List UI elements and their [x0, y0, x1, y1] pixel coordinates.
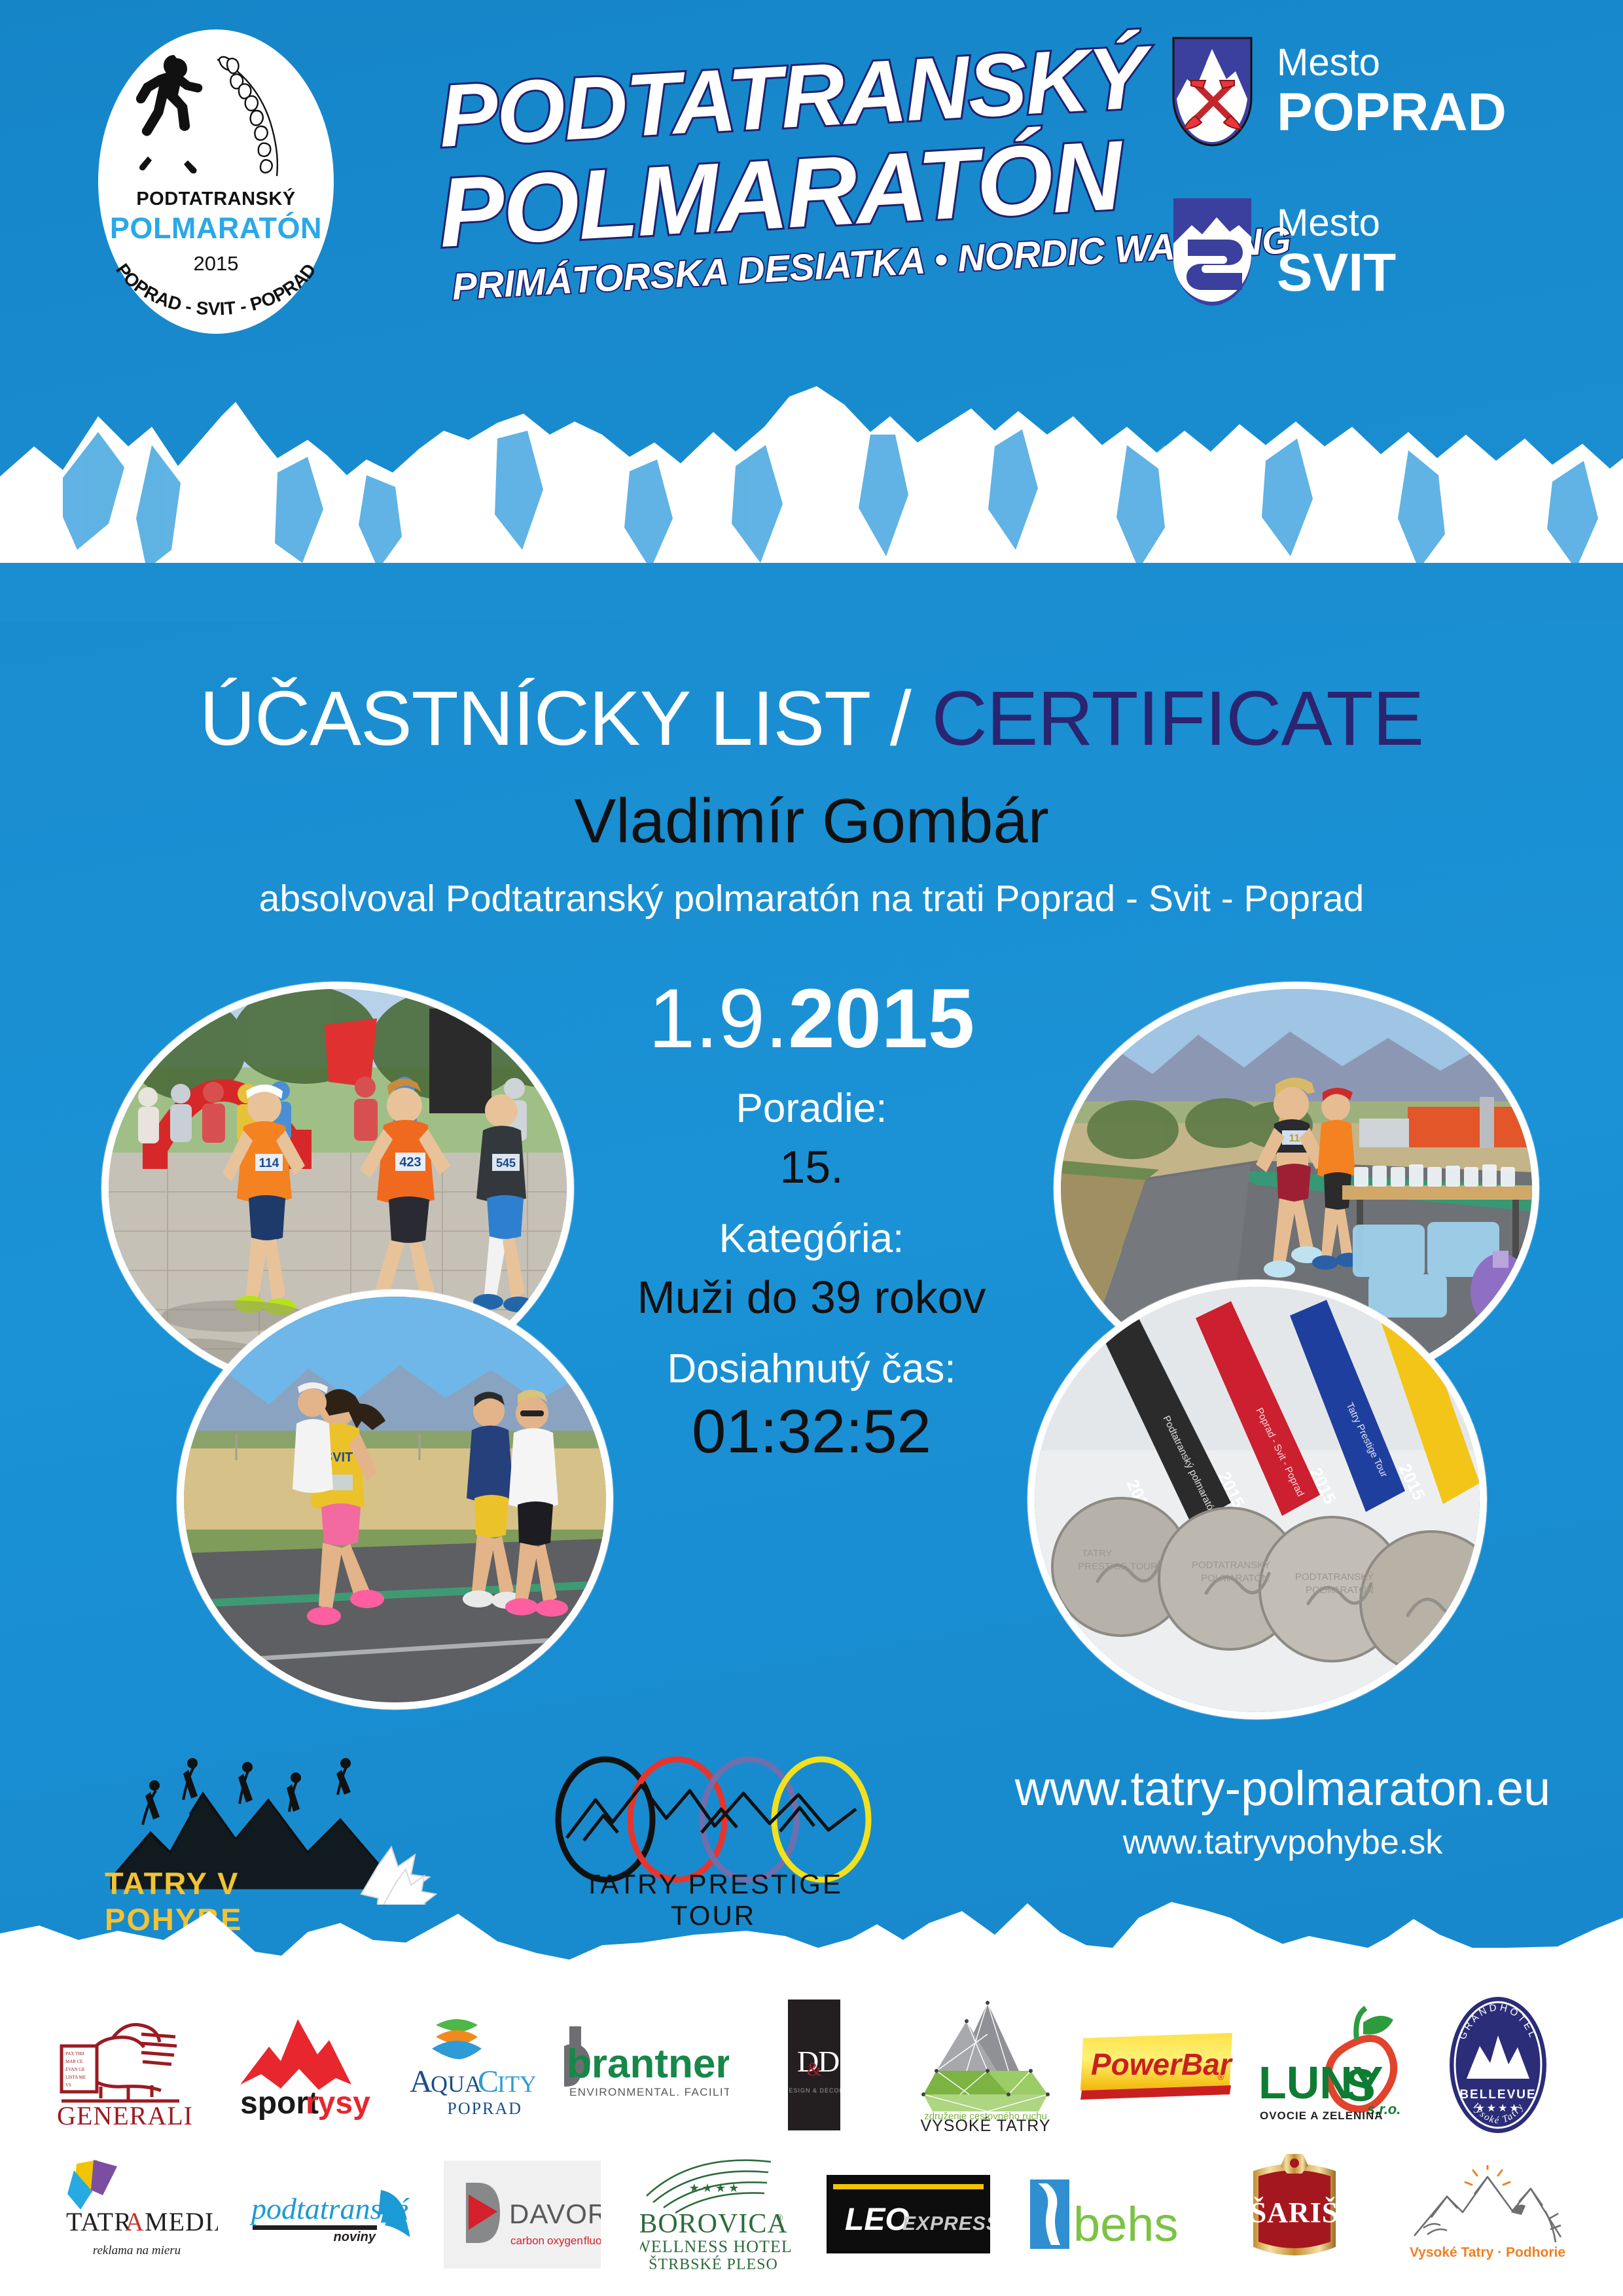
partner-svit-name: SVIT — [1277, 246, 1396, 300]
event-date-year: 2015 — [788, 972, 974, 1066]
svg-text:PRESTIGE TOUR: PRESTIGE TOUR — [1078, 1561, 1158, 1572]
svg-text:®: ® — [776, 2214, 783, 2223]
svg-text:OVOCIE A ZELENINA: OVOCIE A ZELENINA — [1260, 2109, 1383, 2122]
bottom-mountain-divider — [0, 1892, 1623, 1977]
svg-text:PAX TIBI: PAX TIBI — [65, 2051, 84, 2056]
svg-text:behsk: behsk — [1073, 2197, 1177, 2251]
svg-text:ITY: ITY — [497, 2071, 535, 2097]
certificate-subtitle: absolvoval Podtatranský polmaratón na tr… — [0, 877, 1623, 920]
svg-text:®: ® — [1218, 2073, 1224, 2082]
photo-runners-field: SVIT — [177, 1289, 613, 1710]
partner-poprad-prefix: Mesto — [1277, 44, 1507, 82]
website-main[interactable]: www.tatry-polmaraton.eu — [969, 1761, 1597, 1816]
partner-poprad: Mesto POPRAD — [1171, 36, 1507, 147]
svg-text:ENVIRONMENTAL. FACILITY SERVIC: ENVIRONMENTAL. FACILITY SERVICES — [569, 2086, 729, 2098]
sponsor-davorin: DAVORIN carbonoxygenfluorine — [425, 2152, 618, 2276]
event-date: 1.9.2015 — [550, 975, 1073, 1063]
sponsor-dd: D D & DESIGN & DECOR — [729, 1990, 900, 2140]
rank-label: Poradie: — [550, 1085, 1073, 1132]
svg-text:LEO: LEO — [845, 2202, 910, 2237]
time-label: Dosiahnutý čas: — [550, 1346, 1073, 1392]
sponsor-behsk: behsk — [1005, 2152, 1198, 2276]
svg-text:POLMARATÓN: POLMARATÓN — [1201, 1573, 1269, 1584]
brantner-logo: brantner ENVIRONMENTAL. FACILITY SERVICE… — [552, 2022, 729, 2108]
svit-crest-icon — [1171, 196, 1253, 308]
svg-text:WELLNESS HOTEL: WELLNESS HOTEL — [640, 2237, 791, 2256]
svg-text:VYSOKÉ TATRY: VYSOKÉ TATRY — [920, 2116, 1050, 2135]
dd-logo: D D & DESIGN & DECOR — [788, 2000, 840, 2130]
tatry-prestige-tour-logo — [550, 1754, 877, 1885]
svg-text:A: A — [125, 2207, 144, 2236]
svg-text:545: 545 — [496, 1157, 516, 1170]
svg-text:EXPRESS: EXPRESS — [902, 2213, 990, 2234]
time-value: 01:32:52 — [550, 1396, 1073, 1467]
svg-text:rysy: rysy — [306, 2086, 370, 2121]
vysoke-tatry-logo: združenie cestovného ruchu VYSOKÉ TATRY … — [910, 1995, 1061, 2136]
partner-svit-prefix: Mesto — [1277, 204, 1396, 242]
page-title-sk: ÚČASTNÍCKY LIST — [200, 675, 869, 762]
sponsor-row-1: PAX TIBIMAR CE EVAN GELISTA ME VS GENERA… — [0, 1990, 1623, 2140]
svg-text:D: D — [818, 2045, 840, 2078]
svg-text:423: 423 — [399, 1155, 421, 1170]
sponsor-leoexpress: LEO EXPRESS — [811, 2152, 1005, 2276]
svg-text:&: & — [807, 2060, 821, 2080]
page-title: ÚČASTNÍCKY LIST / CERTIFICATE — [0, 674, 1623, 763]
svg-text:11: 11 — [1289, 1133, 1300, 1144]
generali-logo: PAX TIBIMAR CE EVAN GELISTA ME VS GENERA… — [50, 2003, 200, 2127]
sponsor-generali: PAX TIBIMAR CE EVAN GELISTA ME VS GENERA… — [39, 1990, 210, 2140]
event-logo: PODTATRANSKÝ POLMARATÓN 2015 POPRAD - SV… — [98, 29, 334, 334]
svg-text:★★★★: ★★★★ — [1476, 2103, 1521, 2114]
website-secondary[interactable]: www.tatryvpohybe.sk — [969, 1823, 1597, 1862]
poster-header: PODTATRANSKÝ POLMARATÓN 2015 POPRAD - SV… — [0, 0, 1623, 367]
svg-text:fluorine: fluorine — [584, 2234, 601, 2247]
photo-runners-field-graphic: SVIT — [184, 1297, 606, 1702]
svg-text:POPRAD: POPRAD — [448, 2099, 523, 2118]
svg-text:carbon: carbon — [510, 2234, 544, 2247]
sponsor-bellevue: GRANDHOTEL Vysoké Tatry BELLEVUE ★★★★ — [1413, 1990, 1584, 2140]
svg-text:114: 114 — [259, 1157, 279, 1170]
rank-value: 15. — [550, 1141, 1073, 1193]
sponsor-tatramedia: TATR A MEDIA reklama na mieru — [39, 2152, 232, 2276]
sponsor-powerbar: PowerBar ® — [1071, 1990, 1241, 2140]
svg-text:TATRY: TATRY — [1082, 1548, 1113, 1559]
aquacity-logo: A QUA C ITY POPRAD — [398, 2003, 535, 2127]
leo-express-logo: LEO EXPRESS — [827, 2175, 990, 2253]
saris-logo: ŠARIŠ — [1245, 2154, 1344, 2275]
results-panel: 1.9.2015 Poradie: 15. Kategória: Muži do… — [550, 975, 1073, 1467]
page-title-en: CERTIFICATE — [931, 675, 1423, 762]
svg-text:A: A — [410, 2064, 433, 2099]
powerbar-logo: PowerBar ® — [1078, 2029, 1235, 2101]
svg-text:DAVORIN: DAVORIN — [509, 2198, 601, 2229]
sponsor-lunys: LUNY S s.r.o. OVOCIE A ZELENINA — [1242, 1990, 1413, 2140]
lunys-logo: LUNY S s.r.o. OVOCIE A ZELENINA — [1252, 2001, 1402, 2129]
svg-text:★★★★: ★★★★ — [688, 2181, 741, 2195]
svg-text:PowerBar: PowerBar — [1091, 2047, 1233, 2081]
partner-poprad-name: POPRAD — [1277, 86, 1507, 139]
sponsor-podtatranske-noviny: podtatranské noviny — [232, 2152, 425, 2276]
certificate-poster: PODTATRANSKÝ POLMARATÓN 2015 POPRAD - SV… — [0, 0, 1623, 1977]
svg-text:TATR: TATR — [66, 2207, 132, 2236]
svg-text:BOROVICA: BOROVICA — [640, 2209, 788, 2239]
sponsor-bar: PAX TIBIMAR CE EVAN GELISTA ME VS GENERA… — [0, 1983, 1623, 2296]
sponsor-borovica: ★★★★ BOROVICA ® WELLNESS HOTEL ŠTRBSKÉ P… — [618, 2152, 811, 2276]
svg-text:QUA: QUA — [431, 2071, 482, 2097]
svg-text:MAR CE: MAR CE — [65, 2059, 83, 2064]
event-title: PODTATRANSKÝ POLMARATÓN PRIMÁTORSKA DESI… — [432, 26, 1126, 340]
davorin-logo: DAVORIN carbonoxygenfluorine — [444, 2161, 601, 2269]
svg-text:ŠARIŠ: ŠARIŠ — [1250, 2196, 1338, 2229]
page-title-separator: / — [869, 675, 931, 762]
category-label: Kategória: — [550, 1215, 1073, 1262]
event-date-day-month: 1.9. — [649, 972, 789, 1066]
svg-text:PODTATRANSKÝ: PODTATRANSKÝ — [1192, 1560, 1270, 1571]
svg-text:EVAN GE: EVAN GE — [65, 2067, 85, 2072]
svg-text:Vysoké Tatry · Podhorie: Vysoké Tatry · Podhorie — [1409, 2245, 1565, 2260]
podtatranske-noviny-logo: podtatranské noviny — [247, 2172, 411, 2257]
laurel-icon — [208, 56, 287, 180]
svg-text:MEDIA: MEDIA — [145, 2207, 218, 2236]
sponsor-row-2: TATR A MEDIA reklama na mieru podtatrans… — [0, 2152, 1623, 2276]
svg-text:POPRAD - SVIT - POPRAD: POPRAD - SVIT - POPRAD — [112, 260, 320, 319]
sponsor-vysoke-tatry: združenie cestovného ruchu VYSOKÉ TATRY … — [900, 1990, 1071, 2140]
category-value: Muži do 39 rokov — [550, 1271, 1073, 1323]
grandhotel-bellevue-logo: GRANDHOTEL Vysoké Tatry BELLEVUE ★★★★ — [1446, 1995, 1550, 2136]
sponsor-sportrysy: sport rysy — [210, 1990, 381, 2140]
svg-text:BELLEVUE: BELLEVUE — [1460, 2088, 1537, 2102]
svg-text:ŠTRBSKÉ PLESO: ŠTRBSKÉ PLESO — [649, 2255, 778, 2273]
photo-medals: 2015 2015 2015 2015 Podtatranský polmara… — [1027, 1280, 1487, 1719]
photo-medals-graphic: 2015 2015 2015 2015 Podtatranský polmara… — [1035, 1287, 1480, 1712]
tatramedia-logo: TATR A MEDIA reklama na mieru — [54, 2157, 218, 2272]
athlete-name: Vladimír Gombár — [0, 785, 1623, 857]
svg-text:noviny: noviny — [333, 2230, 376, 2244]
svg-text:brantner: brantner — [567, 2041, 729, 2087]
borovica-logo: ★★★★ BOROVICA ® WELLNESS HOTEL ŠTRBSKÉ P… — [640, 2155, 791, 2273]
svg-text:reklama na mieru: reklama na mieru — [92, 2244, 180, 2257]
sponsor-brantner: brantner ENVIRONMENTAL. FACILITY SERVICE… — [552, 1990, 729, 2140]
svg-text:PODTATRANSKÝ: PODTATRANSKÝ — [1295, 1571, 1374, 1583]
svg-text:GENERALI: GENERALI — [57, 2101, 193, 2127]
svg-text:oxygen: oxygen — [547, 2234, 583, 2247]
poprad-crest-icon — [1171, 36, 1253, 147]
mountain-ridge-graphic — [0, 353, 1623, 622]
event-logo-line1: PODTATRANSKÝ — [98, 188, 334, 210]
sponsor-aquacity: A QUA C ITY POPRAD — [382, 1990, 552, 2140]
svg-text:POLMARATÓN: POLMARATÓN — [1306, 1585, 1374, 1596]
svg-text:C: C — [478, 2064, 499, 2099]
sportrysy-logo: sport rysy — [221, 2006, 371, 2124]
sponsor-vysoke-tatry-podhorie: Vysoké Tatry · Podhorie — [1391, 2152, 1584, 2276]
svg-text:VS: VS — [65, 2083, 71, 2088]
event-logo-route-arc: POPRAD - SVIT - POPRAD — [98, 245, 334, 331]
behsk-logo: behsk — [1026, 2172, 1177, 2257]
sponsor-saris: ŠARIŠ — [1198, 2152, 1391, 2276]
partner-svit: Mesto SVIT — [1171, 196, 1396, 308]
svg-text:DESIGN & DECOR: DESIGN & DECOR — [788, 2087, 840, 2094]
vysoke-tatry-podhorie-logo: Vysoké Tatry · Podhorie — [1409, 2165, 1566, 2263]
event-logo-line2: POLMARATÓN — [98, 211, 334, 245]
svg-text:LISTA ME: LISTA ME — [65, 2075, 86, 2080]
